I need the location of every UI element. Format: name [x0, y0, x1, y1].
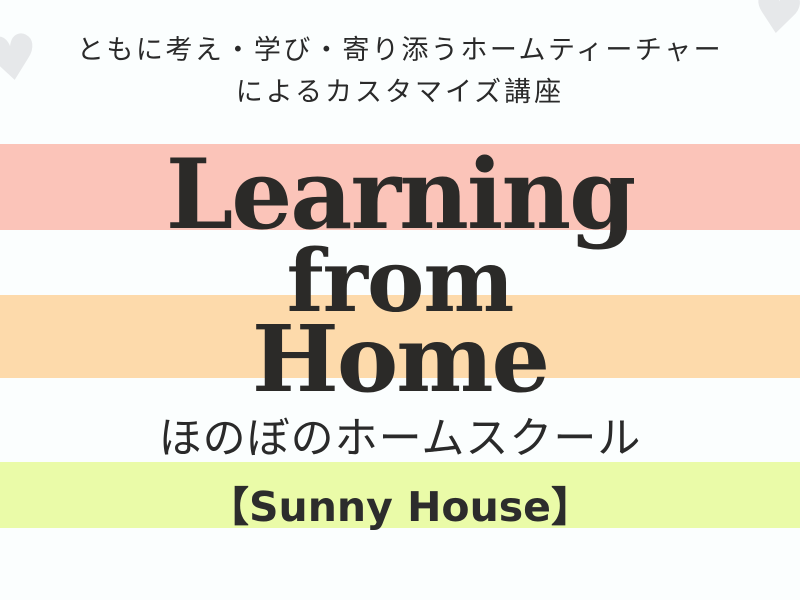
display-title-line-3: Home [0, 313, 800, 405]
catch-copy-line-1: ともに考え・学び・寄り添うホームティーチャー [0, 30, 800, 72]
catch-copy: ともに考え・学び・寄り添うホームティーチャー によるカスタマイズ講座 [0, 30, 800, 114]
subtitle: ほのぼのホームスクール [0, 404, 800, 466]
display-title-line-1: Learning [0, 147, 800, 243]
catch-copy-line-2: によるカスタマイズ講座 [0, 72, 800, 114]
slide-canvas: ♥ ♥ ♥ ともに考え・学び・寄り添うホームティーチャー によるカスタマイズ講座… [0, 0, 800, 600]
brand-name: 【Sunny House】 [0, 473, 800, 533]
